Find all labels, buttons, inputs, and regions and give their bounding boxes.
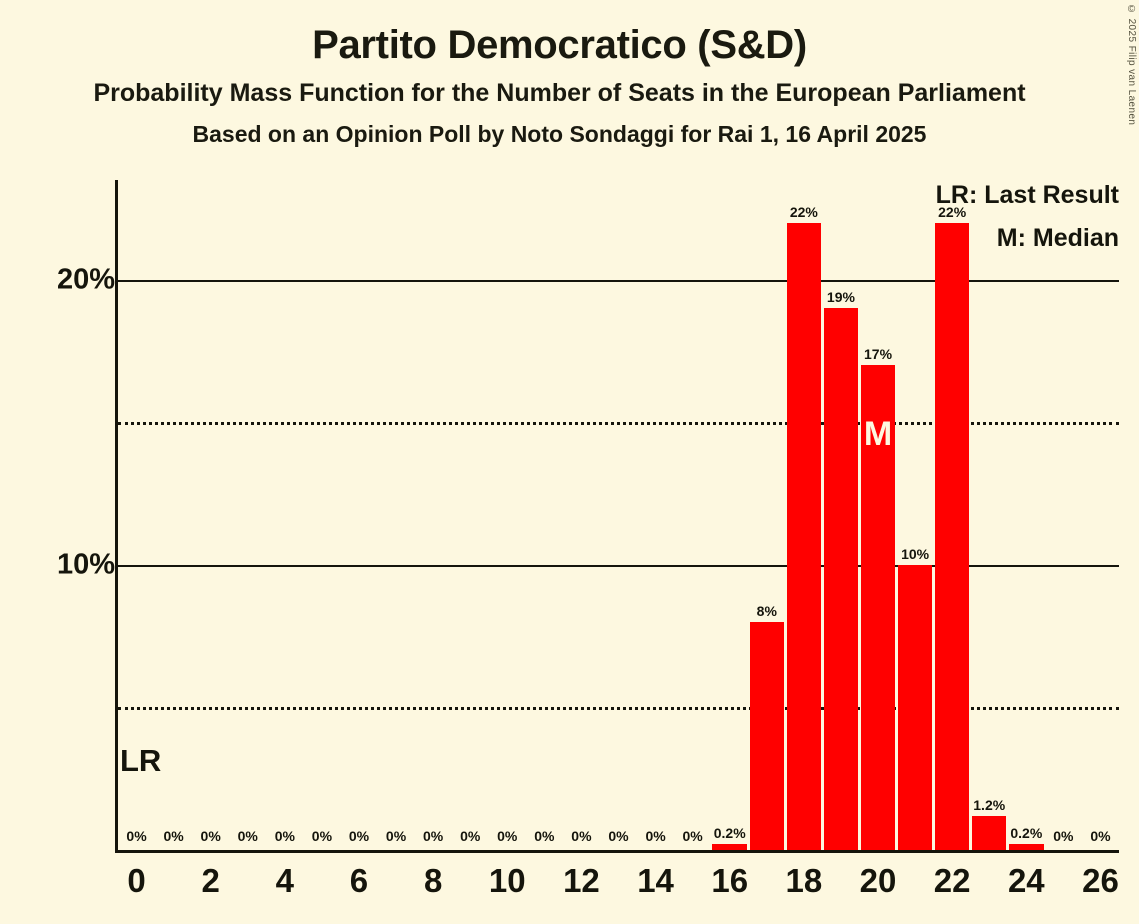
bar-value-label: 8% — [757, 603, 777, 619]
x-axis-tick-label: 16 — [711, 862, 748, 900]
x-axis-tick-label: 2 — [201, 862, 219, 900]
bar-value-label: 0% — [608, 828, 628, 844]
bar-value-label: 1.2% — [973, 797, 1005, 813]
page-title: Partito Democratico (S&D) — [0, 24, 1119, 66]
bar-value-label: 19% — [827, 289, 855, 305]
bar-value-label: 22% — [790, 204, 818, 220]
bar — [935, 223, 969, 850]
plot-area: 0%0%0%0%0%0%0%0%0%0%0%0%0%0%0%0%0.2%8%22… — [118, 180, 1119, 850]
bar — [824, 308, 858, 850]
bar-value-label: 0.2% — [1010, 825, 1042, 841]
x-axis-tick-label: 24 — [1008, 862, 1045, 900]
x-axis-line — [115, 850, 1119, 853]
last-result-marker: LR — [120, 745, 161, 776]
chart-source-line: Based on an Opinion Poll by Noto Sondagg… — [0, 122, 1119, 146]
x-axis-tick-label: 10 — [489, 862, 526, 900]
bar-value-label: 0% — [312, 828, 332, 844]
copyright-notice: © 2025 Filip van Laenen — [1126, 4, 1137, 125]
x-axis-tick-label: 8 — [424, 862, 442, 900]
bar — [712, 844, 746, 850]
bar-value-label: 0% — [423, 828, 443, 844]
median-marker: M — [864, 417, 892, 451]
bar-value-label: 0% — [275, 828, 295, 844]
chart-legend: LR: Last Result M: Median — [936, 183, 1119, 251]
bar-value-label: 0% — [163, 828, 183, 844]
x-axis-tick-label: 14 — [637, 862, 674, 900]
bar-value-label: 17% — [864, 346, 892, 362]
bar-value-label: 0% — [497, 828, 517, 844]
bar-value-label: 0% — [126, 828, 146, 844]
bar — [750, 622, 784, 850]
bar-value-label: 10% — [901, 546, 929, 562]
x-axis-tick-label: 12 — [563, 862, 600, 900]
bar-value-label: 0% — [349, 828, 369, 844]
y-axis-tick-label: 10% — [57, 548, 115, 581]
bar-value-label: 0% — [645, 828, 665, 844]
bar-value-label: 0% — [571, 828, 591, 844]
x-axis-tick-label: 20 — [860, 862, 897, 900]
bar — [787, 223, 821, 850]
bar-value-label: 0% — [1090, 828, 1110, 844]
legend-median: M: Median — [936, 226, 1119, 251]
bar — [972, 816, 1006, 850]
bar-value-label: 0% — [460, 828, 480, 844]
bar-value-label: 0% — [201, 828, 221, 844]
bar-value-label: 0% — [534, 828, 554, 844]
bar-value-label: 0% — [386, 828, 406, 844]
bar-value-label: 0.2% — [714, 825, 746, 841]
bar-value-label: 0% — [1053, 828, 1073, 844]
bar — [1009, 844, 1043, 850]
chart-subtitle: Probability Mass Function for the Number… — [0, 80, 1119, 106]
bar — [898, 565, 932, 850]
x-axis-tick-label: 4 — [276, 862, 294, 900]
y-axis-tick-label: 20% — [57, 263, 115, 296]
chart-header: Partito Democratico (S&D) Probability Ma… — [0, 0, 1119, 146]
x-axis-tick-label: 0 — [127, 862, 145, 900]
legend-last-result: LR: Last Result — [936, 183, 1119, 208]
bar-value-label: 0% — [683, 828, 703, 844]
x-axis-tick-label: 18 — [786, 862, 823, 900]
pmf-chart: Partito Democratico (S&D) Probability Ma… — [0, 0, 1139, 924]
x-axis-tick-label: 26 — [1082, 862, 1119, 900]
x-axis-tick-label: 6 — [350, 862, 368, 900]
x-axis-tick-label: 22 — [934, 862, 971, 900]
bar-value-label: 0% — [238, 828, 258, 844]
